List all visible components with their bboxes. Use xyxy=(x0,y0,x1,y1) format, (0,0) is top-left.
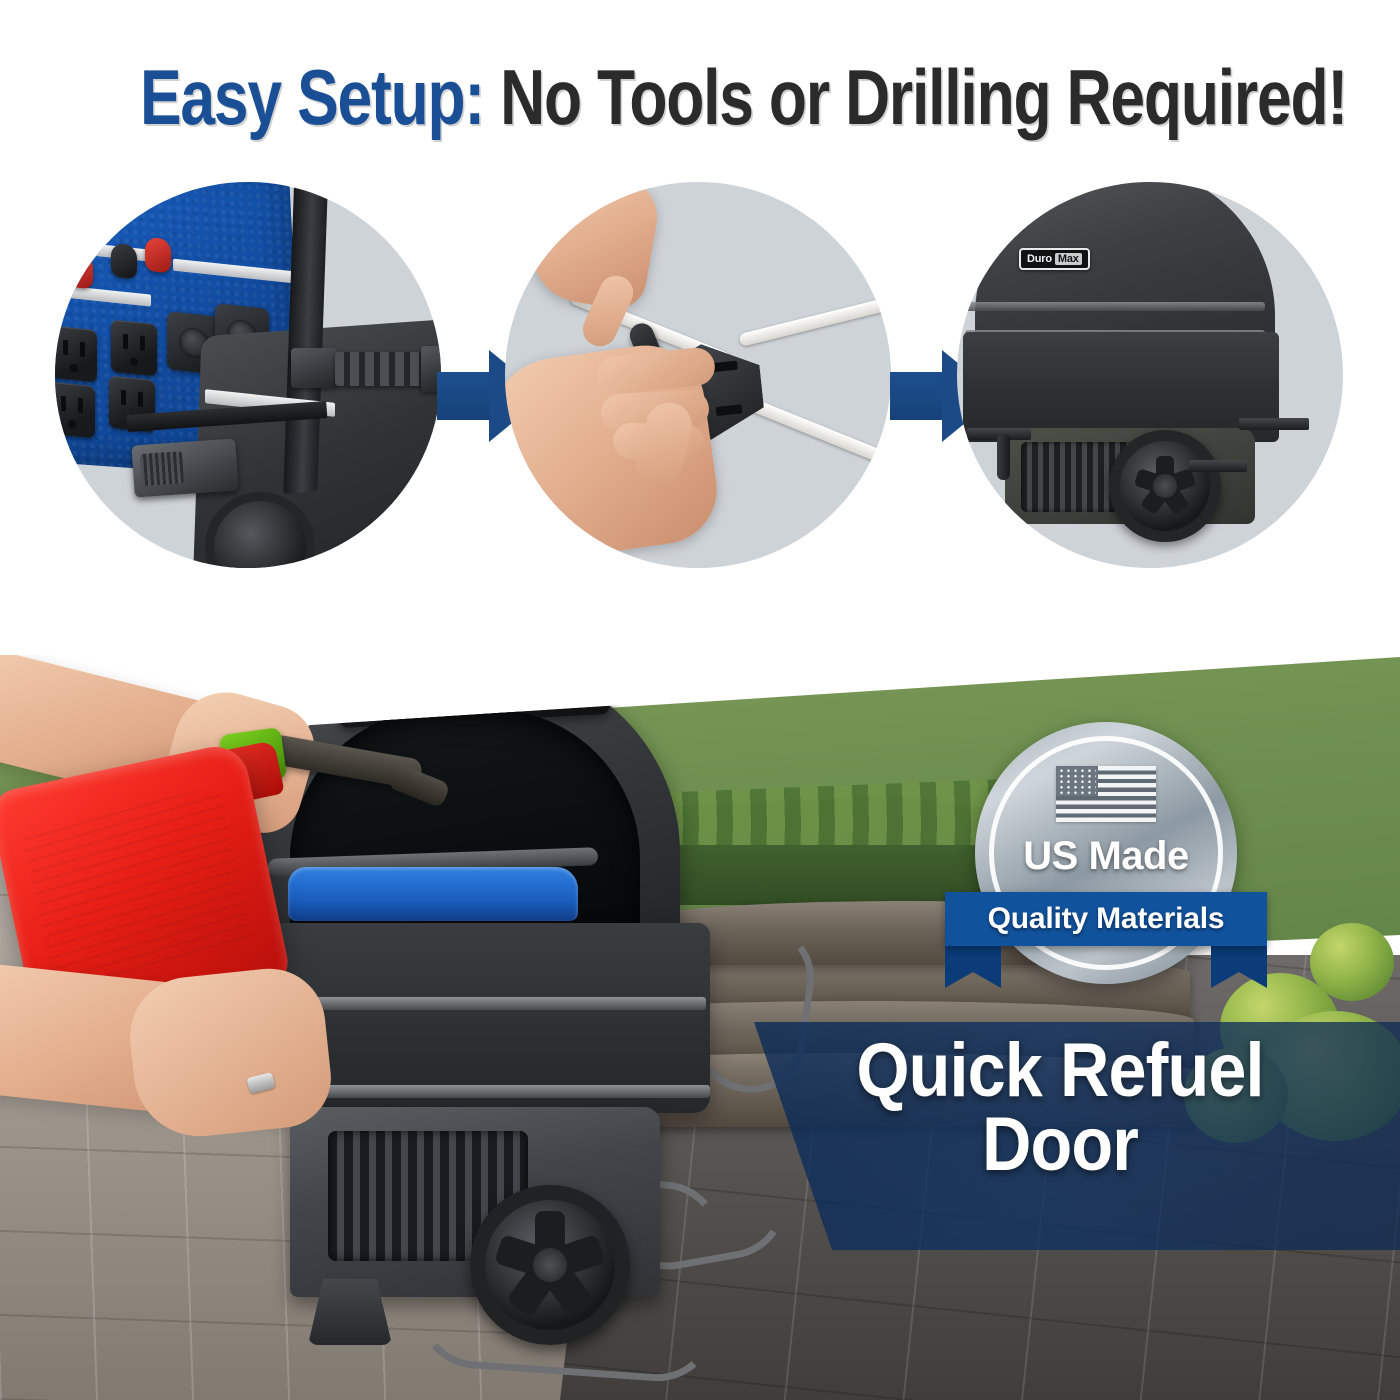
ratchet-buckle xyxy=(131,438,238,497)
cover-support-leg xyxy=(997,434,1010,480)
frame-pole xyxy=(738,286,891,347)
binding-post-black xyxy=(111,243,137,280)
us-made-badge: US Made Quality Materials xyxy=(975,722,1237,984)
poster-canvas: Easy Setup: No Tools or Drilling Require… xyxy=(0,0,1400,1400)
duromax-logo: Duro Max xyxy=(1019,248,1090,270)
badge-ribbon: Quality Materials xyxy=(945,892,1267,946)
feature-line-2: Door xyxy=(781,1108,1339,1182)
power-outlet xyxy=(111,320,157,377)
page-title: Easy Setup: No Tools or Drilling Require… xyxy=(140,58,1260,136)
cover-clamp-clip xyxy=(1189,460,1247,472)
binding-post-red xyxy=(67,253,93,290)
flag-canton-icon xyxy=(1056,766,1098,796)
cover-clamp-clip xyxy=(1239,418,1309,430)
binding-post-red xyxy=(145,237,171,274)
cover-seam xyxy=(965,302,1265,311)
feature-line-1: Quick Refuel xyxy=(781,1034,1339,1108)
clamp-rail xyxy=(335,352,427,386)
ribbon-label: Quality Materials xyxy=(945,892,1267,946)
hand-upper xyxy=(525,182,664,313)
badge-title: US Made xyxy=(975,834,1237,879)
headline-blue-part: Easy Setup: xyxy=(140,53,484,141)
clamp-bracket xyxy=(291,348,337,388)
generator-wheel xyxy=(1109,430,1221,542)
step-circle-clamp xyxy=(55,182,441,568)
shrub xyxy=(1310,923,1394,1001)
feature-banner-text: Quick Refuel Door xyxy=(781,1034,1339,1183)
power-outlet xyxy=(55,382,95,439)
headline-dark-part: No Tools or Drilling Required! xyxy=(484,53,1347,141)
step-circle-frame xyxy=(505,182,891,568)
setup-steps: Duro Max Clamp Frame Cover xyxy=(0,182,1400,582)
logo-text-max: Max xyxy=(1055,253,1082,265)
step-circle-cover: Duro Max xyxy=(957,182,1343,568)
logo-text-duro: Duro xyxy=(1027,253,1052,265)
power-outlet xyxy=(55,326,97,383)
us-flag-icon xyxy=(1056,766,1156,822)
refuel-action-group xyxy=(0,655,560,1215)
hand-supporting-can xyxy=(124,963,336,1143)
cover-skirt xyxy=(963,332,1279,442)
